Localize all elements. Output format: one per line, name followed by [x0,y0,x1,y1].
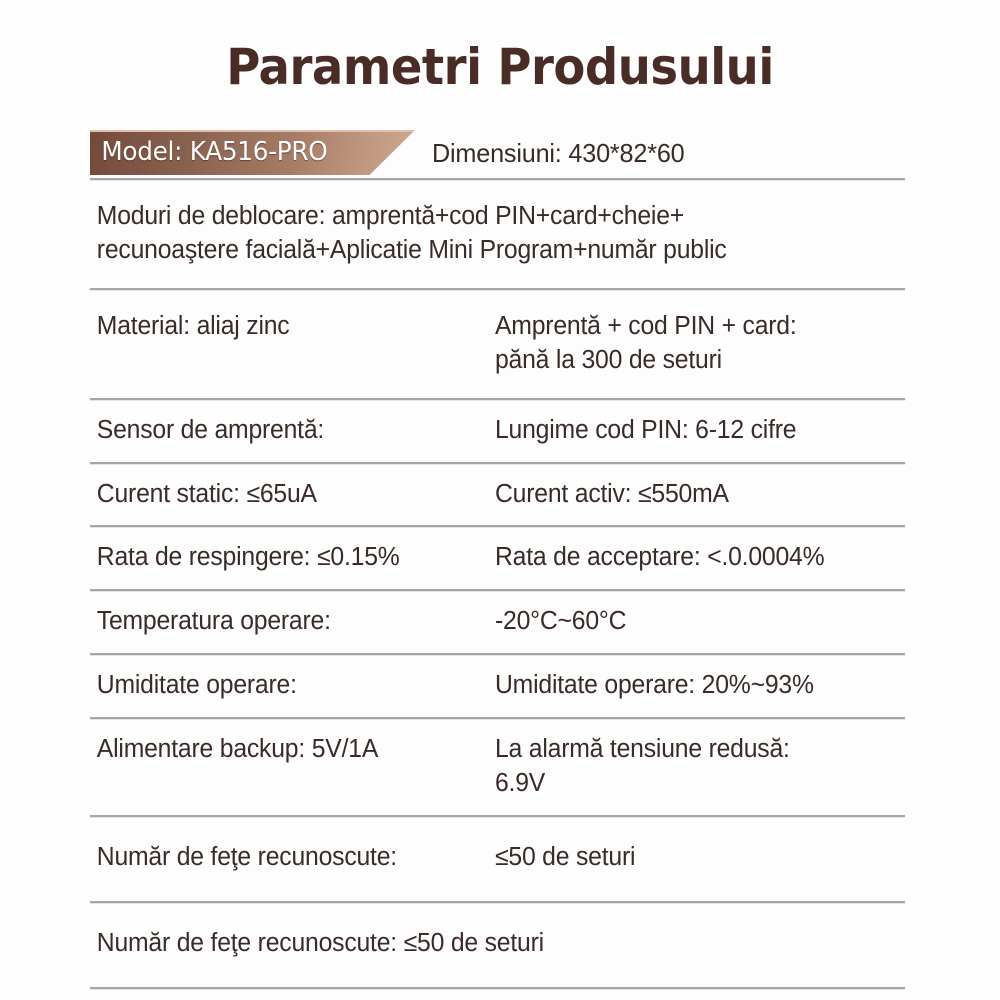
capacity-value: Amprentă + cod PIN + card: pănă la 300 d… [495,310,893,378]
table-row: Alimentare backup: 5V/1A La alarmă tensi… [90,719,905,815]
acceptance-rate-value: Rata de acceptare: <.0.0004% [495,541,893,575]
row-divider [90,987,905,989]
page-title: Parametri Produsului [35,38,965,96]
pin-length-value: Lungime cod PIN: 6-12 cifre [495,414,893,448]
model-badge-label: Model: KA516-PRO [90,130,399,175]
recognized-faces-value-repeat: Număr de feţe recunoscute: ≤50 de seturi [90,927,881,961]
table-row: Număr de feţe recunoscute: ≤50 de seturi [90,817,905,901]
table-row: Material: aliaj zinc Amprentă + cod PIN … [90,290,905,398]
recognized-faces-label: Număr de feţe recunoscute: [90,841,483,875]
operating-temperature-value: -20°C~60°C [495,605,893,639]
active-current-value: Curent activ: ≤550mA [495,478,893,512]
recognized-faces-value: ≤50 de seturi [495,841,893,875]
unlock-modes-value: Moduri de deblocare: amprentă+cod PIN+ca… [90,200,881,268]
table-row: Sensor de amprentă: Lungime cod PIN: 6-1… [90,400,905,462]
table-row: Umiditate operare: Umiditate operare: 20… [90,655,905,717]
table-row: Curent static: ≤65uA Curent activ: ≤550m… [90,464,905,526]
table-row-model: Model: KA516-PRO Dimensiuni: 430*82*60 [90,130,905,178]
table-row: Număr de feţe recunoscute: ≤50 de seturi [90,903,905,987]
low-voltage-alarm-value: La alarmă tensiune redusă: 6.9V [495,733,893,801]
material-label: Material: aliaj zinc [90,310,483,344]
fingerprint-sensor-label: Sensor de amprentă: [90,414,483,448]
table-row: Moduri de deblocare: amprentă+cod PIN+ca… [90,180,905,288]
operating-humidity-label: Umiditate operare: [90,669,483,703]
rejection-rate-value: Rata de respingere: ≤0.15% [90,541,483,575]
backup-power-value: Alimentare backup: 5V/1A [90,733,483,767]
parameters-table: Model: KA516-PRO Dimensiuni: 430*82*60 M… [90,130,905,989]
operating-humidity-value: Umiditate operare: 20%~93% [495,669,893,703]
product-parameters-page: Parametri Produsului Model: KA516-PRO Di… [0,0,1000,1000]
dimensions-value: Dimensiuni: 430*82*60 [432,132,685,174]
static-current-value: Curent static: ≤65uA [90,478,483,512]
table-row: Rata de respingere: ≤0.15% Rata de accep… [90,527,905,589]
operating-temperature-label: Temperatura operare: [90,605,483,639]
table-row: Temperatura operare: -20°C~60°C [90,591,905,653]
